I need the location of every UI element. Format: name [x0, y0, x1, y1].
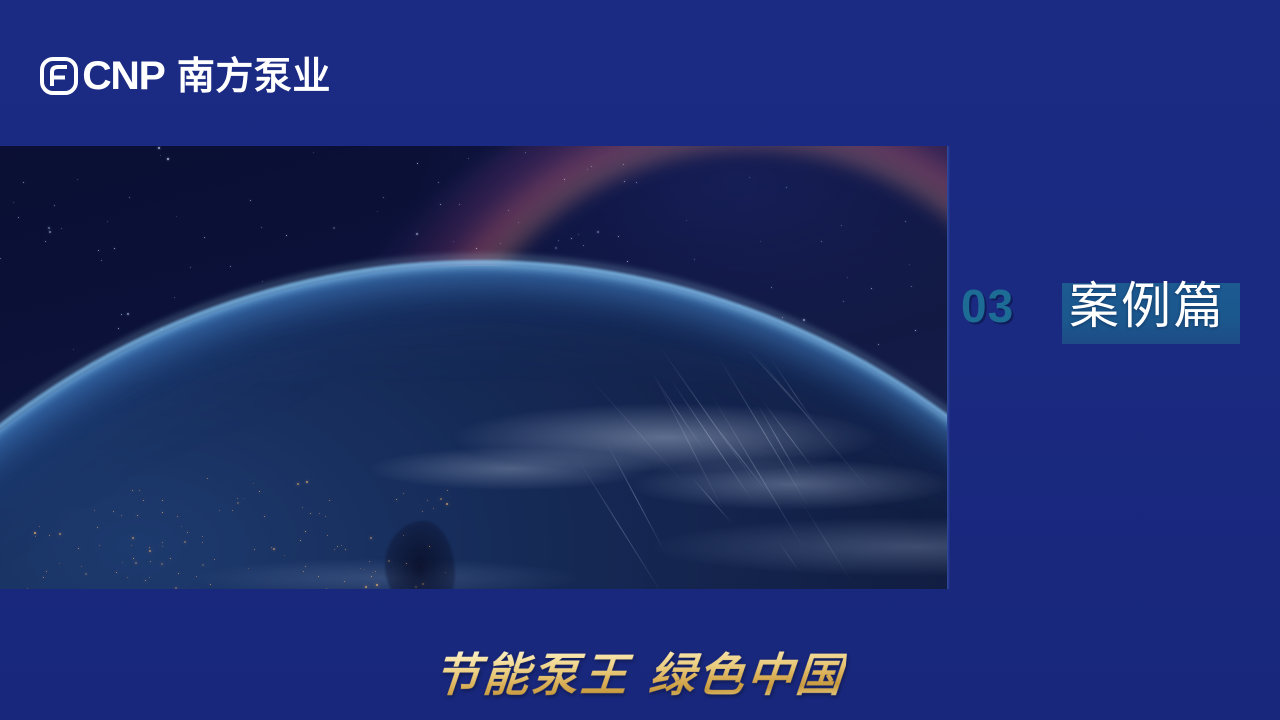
section-panel: 03 案例篇 — [947, 146, 1280, 589]
presentation-slide: CNP 南方泵业 03 案例篇 节能泵王 绿色中国 — [0, 0, 1280, 720]
slide-header: CNP 南方泵业 — [0, 0, 1280, 146]
satellite-streaks-layer — [0, 146, 947, 589]
logo-latin-text: CNP — [82, 56, 164, 96]
tagline-text: 节能泵王 绿色中国 — [432, 649, 848, 702]
cnp-logo[interactable]: CNP 南方泵业 — [40, 52, 331, 100]
logo-chinese-text: 南方泵业 — [177, 57, 331, 95]
footer-tagline: 节能泵王 绿色中国 — [0, 649, 1280, 702]
section-number: 03 — [961, 283, 1014, 329]
cnp-logo-mark-icon — [40, 57, 78, 95]
section-title: 案例篇 — [1069, 281, 1225, 331]
earth-from-space-photo — [0, 146, 947, 589]
